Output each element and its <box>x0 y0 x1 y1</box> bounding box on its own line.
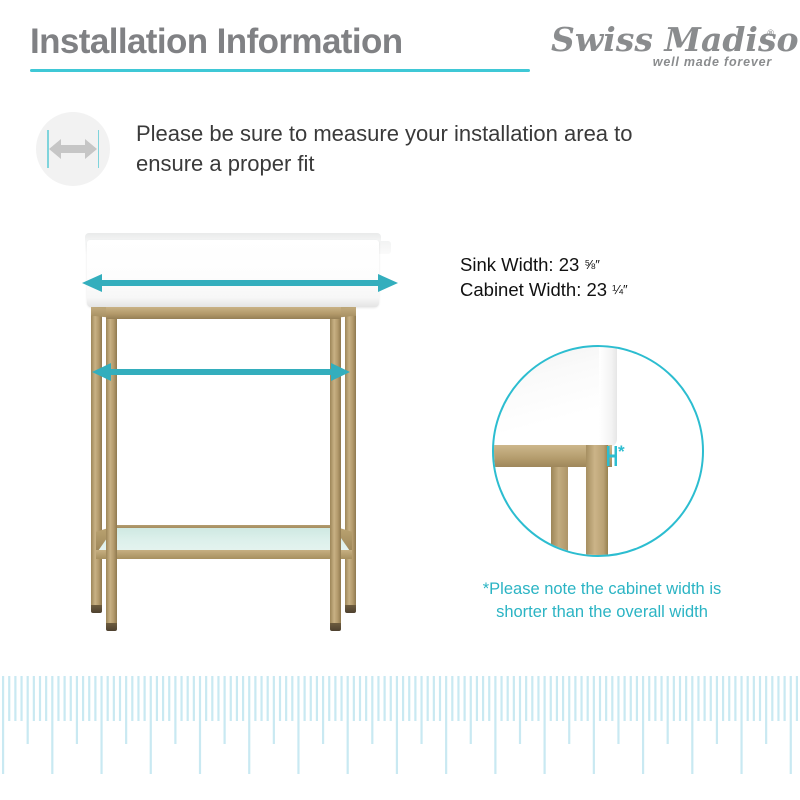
double-arrow-measure-icon <box>36 112 110 186</box>
vanity-illustration <box>60 228 420 653</box>
double-arrow-glyph <box>49 136 97 162</box>
measure-notice: Please be sure to measure your installat… <box>32 108 672 192</box>
cabinet-width-dimension: Cabinet Width: 23 ¼″ <box>460 277 760 302</box>
vanity-apron-front <box>106 307 341 319</box>
footnote-line-1: *Please note the cabinet width is <box>452 578 752 601</box>
page-header: Installation Information Swiss Madison ®… <box>0 0 800 86</box>
vanity-leg-back-right <box>345 307 356 607</box>
installation-information-page: Installation Information Swiss Madison ®… <box>0 0 800 800</box>
vanity-leg-front-left <box>106 307 117 625</box>
ruler-tick-strip <box>0 676 800 786</box>
vanity-leg-front-right <box>330 307 341 625</box>
vanity-foot-back-right <box>345 605 356 613</box>
sink-width-value: 23 <box>559 254 580 275</box>
cabinet-width-footnote: *Please note the cabinet width is shorte… <box>452 578 752 624</box>
vanity-leg-back-left <box>91 307 102 607</box>
footnote-line-2: shorter than the overall width <box>452 601 752 624</box>
sink-width-fraction: ⅝″ <box>584 257 599 272</box>
vanity-foot-front-left <box>106 623 117 631</box>
cabinet-width-arrow <box>92 361 350 383</box>
sink-basin-lip <box>87 298 379 307</box>
cabinet-width-label: Cabinet Width: <box>460 279 581 300</box>
dimension-list: Sink Width: 23 ⅝″ Cabinet Width: 23 ¼″ <box>460 252 760 302</box>
sink-width-label: Sink Width: <box>460 254 554 275</box>
detail-circle-ring <box>492 345 704 557</box>
cabinet-width-value: 23 <box>586 279 607 300</box>
vanity-foot-front-right <box>330 623 341 631</box>
cabinet-width-fraction: ¼″ <box>612 282 627 297</box>
sink-width-arrow <box>82 272 398 294</box>
shelf-rail-front <box>96 550 352 559</box>
measure-notice-text: Please be sure to measure your installat… <box>136 119 666 179</box>
brand-logo-wordmark: Swiss Madison <box>551 22 776 58</box>
title-underline-rule <box>30 69 530 72</box>
brand-tagline: well made forever <box>653 55 772 69</box>
sink-width-dimension: Sink Width: 23 ⅝″ <box>460 252 760 277</box>
measure-icon-right-tick <box>98 130 100 168</box>
vanity-foot-back-left <box>91 605 102 613</box>
brand-logo: Swiss Madison ® well made forever <box>551 22 776 74</box>
cabinet-overhang-detail-circle: * <box>492 345 704 557</box>
page-title: Installation Information <box>30 22 403 62</box>
registered-trademark-icon: ® <box>767 28 774 38</box>
